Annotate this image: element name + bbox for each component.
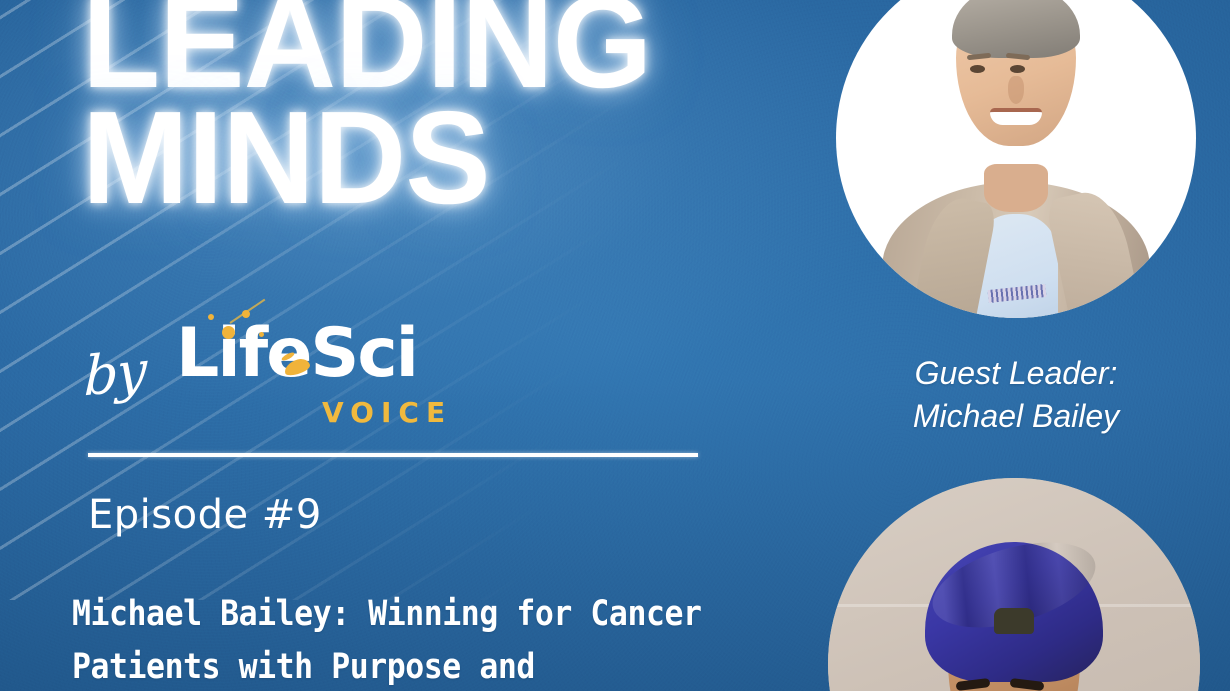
- episode-title: Michael Bailey: Winning for Cancer Patie…: [72, 588, 738, 691]
- show-title-line-2: MINDS: [82, 100, 651, 216]
- voice-wordmark: VOICE: [322, 396, 452, 429]
- molecule-dot-icon-2: [242, 310, 250, 318]
- portrait-hair: [952, 0, 1080, 58]
- portrait-eye-left: [970, 65, 985, 73]
- lifesci-voice-logo-lockup: by LifeSci VOICE: [84, 316, 504, 442]
- portrait-eye-right: [1010, 65, 1025, 73]
- portrait-nose: [1008, 76, 1024, 104]
- episode-number-label: Episode #9: [88, 492, 322, 538]
- guest-portrait-photo: [836, 0, 1196, 318]
- host-portrait-photo: [828, 478, 1200, 691]
- left-content-column: LEADING MINDS by LifeSci VOICE Episode #…: [0, 0, 830, 691]
- molecule-dot-icon-3: [208, 314, 214, 320]
- podcast-episode-cover: LEADING MINDS by LifeSci VOICE Episode #…: [0, 0, 1230, 691]
- episode-title-line-1: Michael Bailey: Winning for Cancer: [72, 588, 738, 641]
- molecule-dot-icon-4: [259, 332, 264, 337]
- portrait-neck: [984, 164, 1048, 212]
- show-title-wordmark: LEADING MINDS: [82, 0, 651, 216]
- turban-knot: [994, 608, 1034, 634]
- by-script-word: by: [83, 339, 146, 409]
- molecule-dot-icon-1: [222, 326, 235, 339]
- horizontal-divider: [88, 453, 698, 457]
- portrait-smile: [990, 108, 1042, 125]
- guest-leader-caption: Guest Leader: Michael Bailey: [836, 352, 1196, 438]
- lifesci-wordmark: LifeSci: [176, 320, 417, 388]
- episode-title-line-2: Patients with Purpose and: [72, 641, 738, 691]
- guest-leader-name: Michael Bailey: [836, 395, 1196, 438]
- guest-leader-label: Guest Leader:: [915, 355, 1118, 391]
